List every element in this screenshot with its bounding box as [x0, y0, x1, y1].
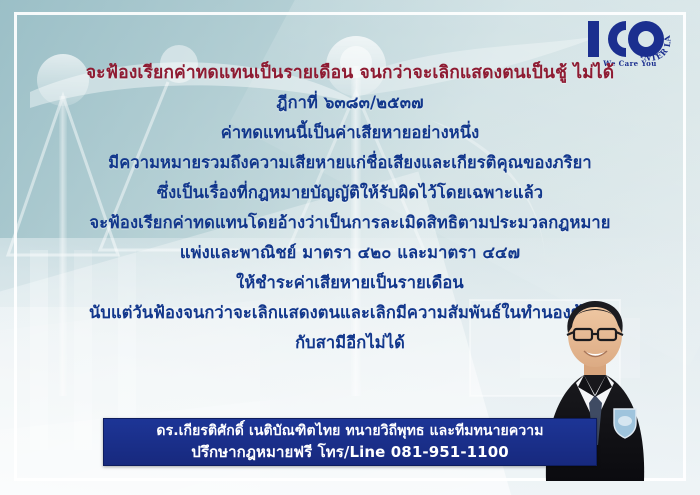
contact-banner[interactable]: ดร.เกียรติศักดิ์ เนติบัณฑิตไทย ทนายวิถีพ… [103, 418, 597, 466]
banner-line-name: ดร.เกียรติศักดิ์ เนติบัณฑิตไทย ทนายวิถีพ… [156, 421, 543, 442]
headline-text: จะฟ้องเรียกค่าทดแทนเป็นรายเดือน จนกว่าจะ… [26, 58, 674, 88]
body-line-2: มีความหมายรวมถึงความเสียหายแก่ชื่อเสียงแ… [26, 148, 674, 178]
body-line-3: ซึ่งเป็นเรื่องที่กฎหมายบัญญัติให้รับผิดไ… [26, 178, 674, 208]
body-line-citation: ฎีกาที่ ๖๓๘๓/๒๕๓๗ [26, 88, 674, 118]
body-line-5: แพ่งและพาณิชย์ มาตรา ๔๒๐ และมาตรา ๔๔๗ [26, 238, 674, 268]
body-line-4: จะฟ้องเรียกค่าทดแทนโดยอ้างว่าเป็นการละเม… [26, 208, 674, 238]
body-line-1: ค่าทดแทนนี้เป็นค่าเสียหายอย่างหนึ่ง [26, 118, 674, 148]
logo-icon: INTER LAW [582, 16, 678, 62]
banner-line-phone: ปรึกษากฎหมายฟรี โทร/Line 081-951-1100 [191, 442, 509, 463]
legal-info-card: INTER LAW We Care You จะฟ้องเรียกค่าทดแท… [0, 0, 700, 495]
